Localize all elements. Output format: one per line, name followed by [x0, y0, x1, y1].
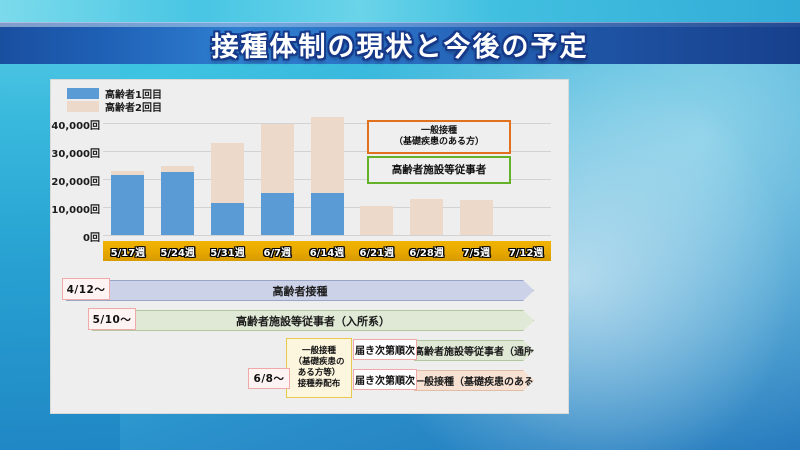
chart-bar-segment	[161, 172, 194, 235]
chart-bar-segment	[360, 206, 393, 235]
timeline-label: 高齢者施設等従事者（通所系）	[414, 343, 534, 358]
legend-label-dose2: 高齢者2回目	[105, 99, 162, 114]
chart-y-tick-label: 40,000回	[38, 117, 100, 132]
chart-bar	[510, 123, 543, 235]
chart-bar-segment	[460, 200, 493, 235]
callout-facility-staff: 高齢者施設等従事者	[367, 156, 511, 184]
chart-gridline	[103, 235, 551, 236]
chart-bar	[211, 123, 244, 235]
chart-bar-segment	[161, 166, 194, 172]
chart-bar-segment	[211, 203, 244, 235]
chart-x-tick-label: 5/24週	[153, 241, 203, 261]
chart-y-tick-label: 20,000回	[38, 173, 100, 188]
background-top-band	[0, 0, 800, 22]
chart-bar-segment	[261, 193, 294, 235]
timeline-label: 高齢者施設等従事者（入所系）	[92, 313, 534, 329]
callout-general-vaccination: 一般接種 （基礎疾患のある方）	[367, 120, 511, 154]
timeline-label: 高齢者接種	[66, 283, 534, 299]
ticket-line1: 一般接種	[302, 346, 336, 357]
chart-bar-segment	[311, 193, 344, 235]
chart-x-tick-label: 6/7週	[252, 241, 302, 261]
timeline-date-chip: 4/12～	[62, 278, 110, 300]
chart-bar	[311, 123, 344, 235]
ticket-line3: ある方等）	[298, 368, 341, 379]
chart-x-tick-label: 6/21週	[352, 241, 402, 261]
callout-general-line1: 一般接種	[394, 126, 484, 137]
chart-y-tick-label: 0回	[38, 229, 100, 244]
timeline-status-chip: 届き次第順次	[353, 339, 417, 360]
chart-x-tick-label: 6/14週	[302, 241, 352, 261]
timeline-arrow: 高齢者施設等従事者（入所系）	[92, 310, 534, 331]
timeline-arrow: 高齢者接種	[66, 280, 534, 301]
ticket-line2: （基礎疾患の	[293, 357, 344, 368]
chart-y-tick-label: 30,000回	[38, 145, 100, 160]
legend-item-dose2: 高齢者2回目	[67, 100, 162, 112]
ticket-date-chip: 6/8～	[248, 368, 290, 389]
chart-x-tick-label: 7/12週	[501, 241, 551, 261]
legend-swatch-dose1	[67, 88, 99, 99]
timeline-arrow: 一般接種（基礎疾患のある方）	[414, 370, 534, 391]
timeline-arrow: 高齢者施設等従事者（通所系）	[414, 340, 534, 361]
chart-x-tick-label: 5/17週	[103, 241, 153, 261]
timeline-label: 一般接種（基礎疾患のある方）	[414, 373, 534, 388]
chart-bar	[161, 123, 194, 235]
chart-x-tick-label: 6/28週	[402, 241, 452, 261]
chart-bar-segment	[211, 143, 244, 203]
ticket-line4: 接種券配布	[298, 379, 341, 390]
vaccination-ticket-box: 一般接種 （基礎疾患の ある方等） 接種券配布	[286, 338, 352, 398]
chart-bar	[111, 123, 144, 235]
chart-y-axis: 0回10,000回20,000回30,000回40,000回	[36, 118, 100, 238]
chart-bar-segment	[111, 171, 144, 175]
chart-bar	[261, 123, 294, 235]
callout-general-line2: （基礎疾患のある方）	[394, 137, 484, 148]
chart-x-tick-label: 5/31週	[203, 241, 253, 261]
chart-legend: 高齢者1回目 高齢者2回目	[67, 87, 162, 113]
chart-bar-segment	[410, 199, 443, 235]
legend-item-dose1: 高齢者1回目	[67, 87, 162, 99]
page-title: 接種体制の現状と今後の予定	[0, 24, 800, 64]
legend-swatch-dose2	[67, 101, 99, 112]
timeline-status-chip: 届き次第順次	[353, 369, 417, 390]
chart-x-axis-band: 5/17週5/24週5/31週6/7週6/14週6/21週6/28週7/5週7/…	[103, 241, 551, 261]
chart-y-tick-label: 10,000回	[38, 201, 100, 216]
chart-bar-segment	[111, 175, 144, 235]
chart-bar-segment	[311, 117, 344, 193]
timeline-date-chip: 5/10～	[88, 308, 136, 330]
chart-bar-segment	[261, 124, 294, 193]
chart-x-tick-label: 7/5週	[451, 241, 501, 261]
